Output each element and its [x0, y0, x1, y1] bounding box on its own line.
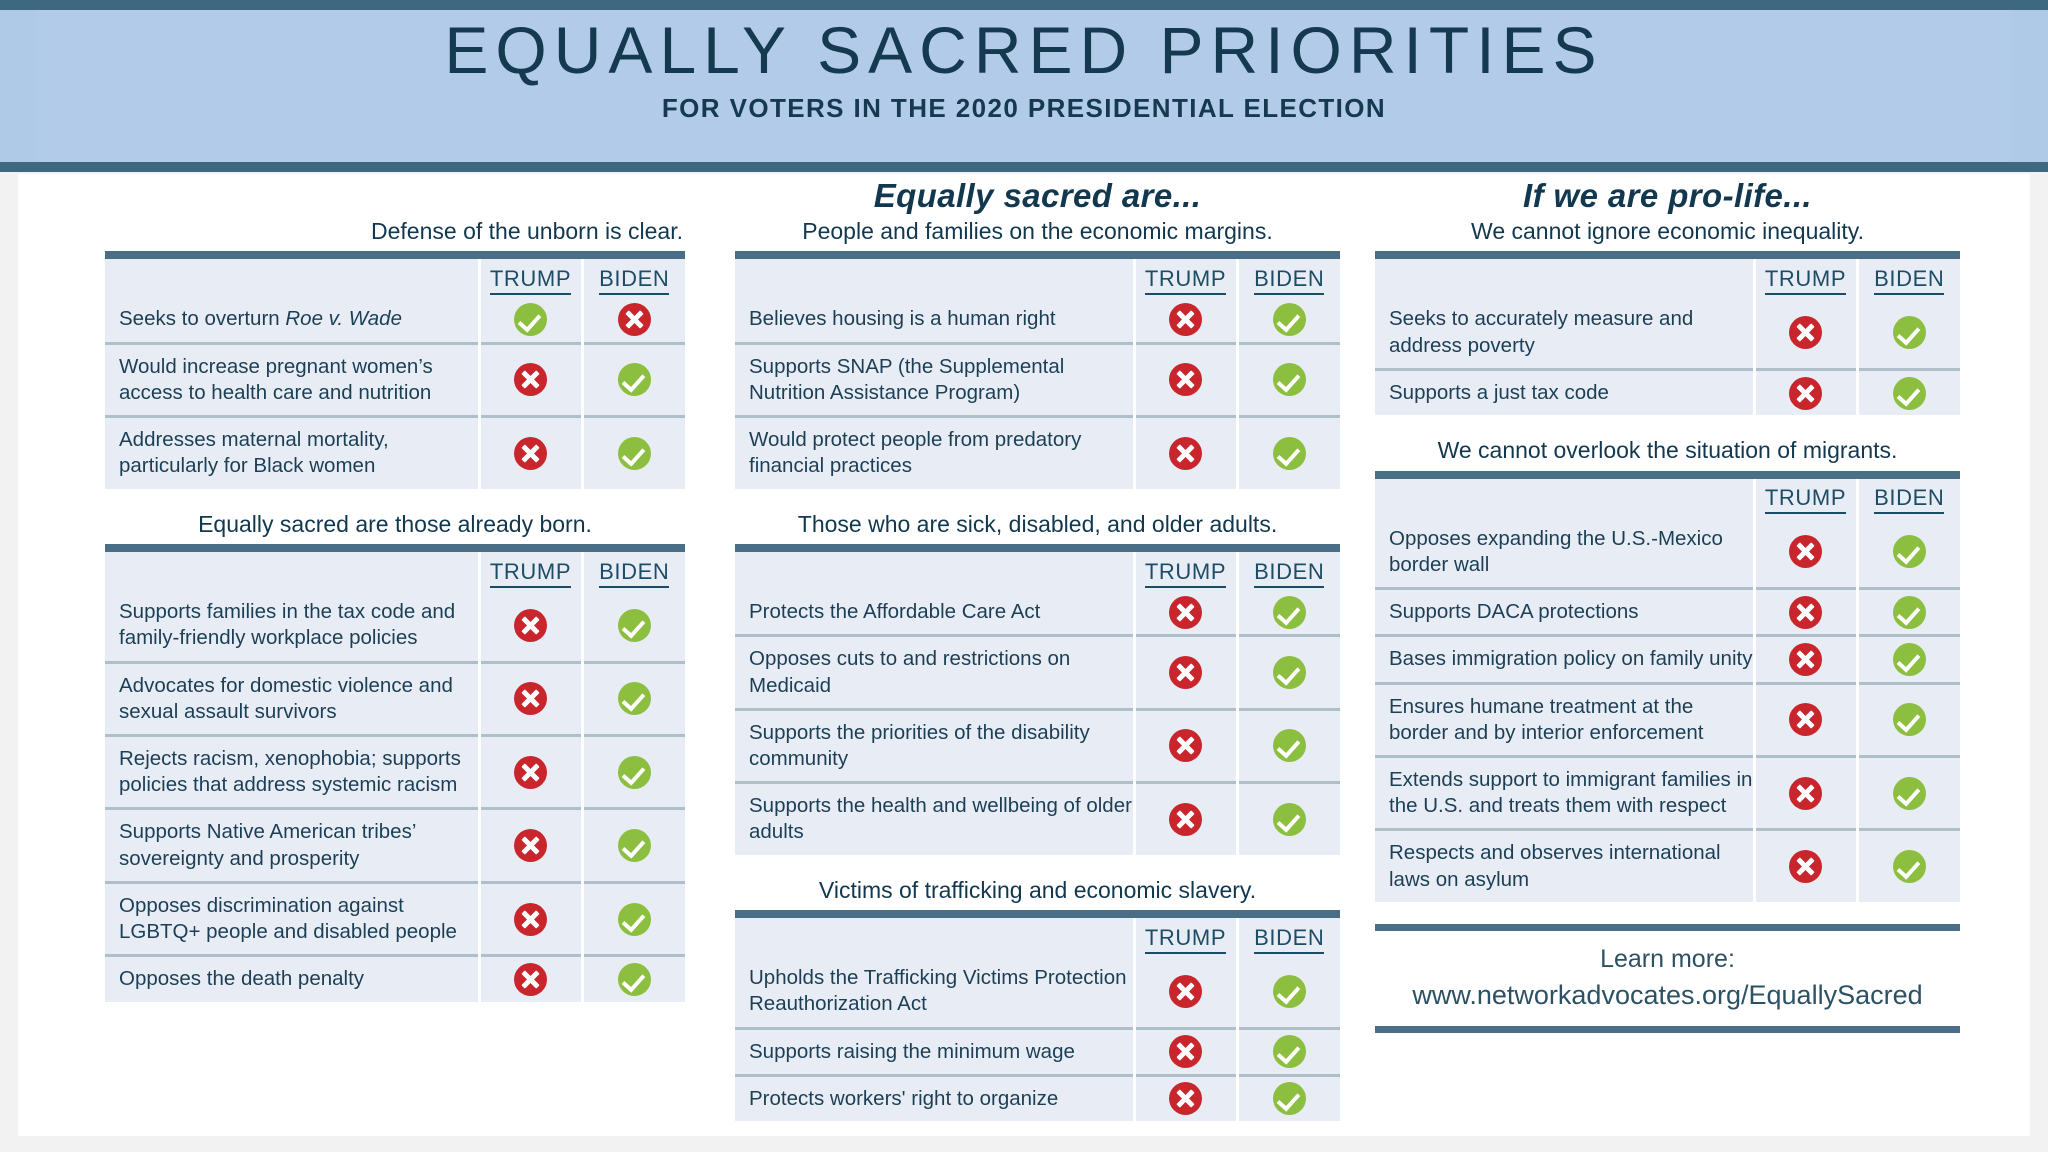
check-circle-icon: [1893, 643, 1926, 676]
comparison-table: TRUMPBIDENBelieves housing is a human ri…: [735, 251, 1340, 488]
biden-vote-cell: [1237, 297, 1340, 343]
trump-vote-cell: [1134, 590, 1237, 636]
table-row: Opposes cuts to and restrictions on Medi…: [735, 636, 1340, 709]
x-circle-icon: [1789, 316, 1822, 349]
table-row: Extends support to immigrant families in…: [1375, 756, 1960, 829]
trump-vote-cell: [479, 590, 582, 662]
issue-label: Bases immigration policy on family unity: [1375, 636, 1754, 683]
column-2: Equally sacred are...People and families…: [735, 174, 1340, 1143]
issue-label: Addresses maternal mortality, particular…: [105, 417, 479, 489]
table-block: We cannot overlook the situation of migr…: [1375, 437, 1960, 902]
trump-vote-cell: [1134, 297, 1237, 343]
table-header-row: TRUMPBIDEN: [735, 255, 1340, 297]
trump-vote-cell: [1754, 517, 1857, 589]
trump-vote-cell: [479, 956, 582, 1002]
issue-label: Supports the priorities of the disabilit…: [735, 709, 1134, 782]
comparison-table: TRUMPBIDENSupports families in the tax c…: [105, 544, 685, 1002]
table-block: Those who are sick, disabled, and older …: [735, 511, 1340, 855]
issue-label: Opposes discrimination against LGBTQ+ pe…: [105, 882, 479, 955]
check-circle-icon: [1273, 975, 1306, 1008]
issue-label: Supports families in the tax code and fa…: [105, 590, 479, 662]
check-circle-icon: [1273, 729, 1306, 762]
check-circle-icon: [618, 437, 651, 470]
header-inner: EQUALLY SACRED PRIORITIES FOR VOTERS IN …: [36, 10, 2012, 162]
biden-vote-cell: [1237, 1075, 1340, 1121]
table-row: Bases immigration policy on family unity: [1375, 636, 1960, 683]
issue-label: Supports SNAP (the Supplemental Nutritio…: [735, 343, 1134, 416]
x-circle-icon: [1169, 656, 1202, 689]
x-circle-icon: [1789, 703, 1822, 736]
issue-label: Supports DACA protections: [1375, 589, 1754, 636]
comparison-table: TRUMPBIDENUpholds the Trafficking Victim…: [735, 910, 1340, 1121]
block-title: Those who are sick, disabled, and older …: [735, 511, 1340, 544]
trump-vote-cell: [1134, 1075, 1237, 1121]
biden-vote-cell: [582, 662, 685, 735]
table-row: Would protect people from predatory fina…: [735, 417, 1340, 489]
biden-column-header: BIDEN: [1857, 255, 1960, 297]
x-circle-icon: [1169, 1035, 1202, 1068]
biden-column-header: BIDEN: [1237, 548, 1340, 590]
issue-label: Advocates for domestic violence and sexu…: [105, 662, 479, 735]
table-header-row: TRUMPBIDEN: [105, 255, 685, 297]
check-circle-icon: [1273, 803, 1306, 836]
comparison-table: TRUMPBIDENSeeks to overturn Roe v. WadeW…: [105, 251, 685, 488]
table-header-row: TRUMPBIDEN: [735, 548, 1340, 590]
block-title: Equally sacred are those already born.: [105, 511, 685, 544]
x-circle-icon: [1169, 363, 1202, 396]
x-circle-icon: [1789, 777, 1822, 810]
check-circle-icon: [618, 756, 651, 789]
spacer-header: [105, 255, 479, 297]
table-row: Advocates for domestic violence and sexu…: [105, 662, 685, 735]
table-row: Supports Native American tribes’ soverei…: [105, 809, 685, 882]
trump-column-header: TRUMP: [1754, 475, 1857, 517]
issue-label: Would protect people from predatory fina…: [735, 417, 1134, 489]
table-row: Believes housing is a human right: [735, 297, 1340, 343]
issue-label: Protects the Affordable Care Act: [735, 590, 1134, 636]
trump-vote-cell: [1134, 343, 1237, 416]
x-circle-icon: [1789, 535, 1822, 568]
x-circle-icon: [1169, 729, 1202, 762]
infographic-page: EQUALLY SACRED PRIORITIES FOR VOTERS IN …: [0, 0, 2048, 1152]
biden-vote-cell: [582, 590, 685, 662]
x-circle-icon: [514, 903, 547, 936]
trump-vote-cell: [1134, 636, 1237, 709]
biden-vote-cell: [1237, 343, 1340, 416]
x-circle-icon: [514, 829, 547, 862]
block-title: Defense of the unborn is clear.: [105, 218, 685, 251]
issue-label: Supports raising the minimum wage: [735, 1028, 1134, 1075]
page-subtitle: FOR VOTERS IN THE 2020 PRESIDENTIAL ELEC…: [662, 93, 1386, 124]
check-circle-icon: [1893, 596, 1926, 629]
check-circle-icon: [1893, 316, 1926, 349]
check-circle-icon: [618, 609, 651, 642]
table-row: Supports a just tax code: [1375, 369, 1960, 415]
trump-vote-cell: [1134, 783, 1237, 855]
table-row: Respects and observes international laws…: [1375, 830, 1960, 902]
table-block: Defense of the unborn is clear.TRUMPBIDE…: [105, 218, 685, 489]
trump-vote-cell: [1754, 297, 1857, 369]
issue-label: Ensures humane treatment at the border a…: [1375, 683, 1754, 756]
table-block: Equally sacred are those already born.TR…: [105, 511, 685, 1002]
trump-vote-cell: [1754, 589, 1857, 636]
page-header: EQUALLY SACRED PRIORITIES FOR VOTERS IN …: [0, 0, 2048, 172]
spacer-header: [1375, 475, 1754, 517]
issue-label: Believes housing is a human right: [735, 297, 1134, 343]
check-circle-icon: [1893, 850, 1926, 883]
column-heading: If we are pro-life...: [1375, 174, 1960, 218]
trump-column-header: TRUMP: [479, 548, 582, 590]
check-circle-icon: [1893, 703, 1926, 736]
learn-more-url[interactable]: www.networkadvocates.org/EquallySacred: [1375, 977, 1960, 1013]
check-circle-icon: [1273, 437, 1306, 470]
comparison-table: TRUMPBIDENOpposes expanding the U.S.-Mex…: [1375, 471, 1960, 902]
biden-vote-cell: [582, 956, 685, 1002]
check-circle-icon: [618, 963, 651, 996]
biden-column-header: BIDEN: [1237, 255, 1340, 297]
trump-vote-cell: [1754, 636, 1857, 683]
check-circle-icon: [618, 363, 651, 396]
biden-vote-cell: [1857, 517, 1960, 589]
issue-label: Would increase pregnant women’s access t…: [105, 343, 479, 416]
issue-label: Seeks to overturn Roe v. Wade: [105, 297, 479, 343]
column-3: If we are pro-life...We cannot ignore ec…: [1375, 174, 1960, 1033]
block-title: Victims of trafficking and economic slav…: [735, 877, 1340, 910]
content-canvas: Defense of the unborn is clear.TRUMPBIDE…: [18, 174, 2030, 1136]
check-circle-icon: [514, 303, 547, 336]
table-row: Supports raising the minimum wage: [735, 1028, 1340, 1075]
biden-vote-cell: [582, 343, 685, 416]
x-circle-icon: [618, 303, 651, 336]
spacer-header: [1375, 255, 1754, 297]
block-title: People and families on the economic marg…: [735, 218, 1340, 251]
x-circle-icon: [514, 363, 547, 396]
learn-more-box: Learn more:www.networkadvocates.org/Equa…: [1375, 924, 1960, 1033]
x-circle-icon: [1169, 596, 1202, 629]
biden-column-header: BIDEN: [1857, 475, 1960, 517]
trump-vote-cell: [1134, 417, 1237, 489]
trump-vote-cell: [1134, 709, 1237, 782]
trump-column-header: TRUMP: [1134, 914, 1237, 956]
x-circle-icon: [514, 682, 547, 715]
check-circle-icon: [1273, 596, 1306, 629]
biden-column-header: BIDEN: [582, 255, 685, 297]
trump-column-header: TRUMP: [1134, 548, 1237, 590]
issue-label: Rejects racism, xenophobia; supports pol…: [105, 735, 479, 808]
column-1: Defense of the unborn is clear.TRUMPBIDE…: [105, 174, 685, 1024]
table-row: Opposes discrimination against LGBTQ+ pe…: [105, 882, 685, 955]
trump-vote-cell: [479, 882, 582, 955]
issue-label: Opposes cuts to and restrictions on Medi…: [735, 636, 1134, 709]
table-row: Upholds the Trafficking Victims Protecti…: [735, 956, 1340, 1028]
trump-vote-cell: [1754, 830, 1857, 902]
biden-vote-cell: [1857, 636, 1960, 683]
trump-vote-cell: [479, 297, 582, 343]
trump-vote-cell: [1754, 683, 1857, 756]
x-circle-icon: [1169, 303, 1202, 336]
table-header-row: TRUMPBIDEN: [105, 548, 685, 590]
x-circle-icon: [1169, 803, 1202, 836]
table-block: We cannot ignore economic inequality.TRU…: [1375, 218, 1960, 415]
x-circle-icon: [1789, 643, 1822, 676]
table-row: Supports the priorities of the disabilit…: [735, 709, 1340, 782]
table-header-row: TRUMPBIDEN: [1375, 255, 1960, 297]
trump-vote-cell: [479, 809, 582, 882]
biden-vote-cell: [1857, 756, 1960, 829]
trump-vote-cell: [1134, 956, 1237, 1028]
issue-label: Supports a just tax code: [1375, 369, 1754, 415]
x-circle-icon: [1789, 596, 1822, 629]
biden-vote-cell: [1857, 589, 1960, 636]
issue-label: Seeks to accurately measure and address …: [1375, 297, 1754, 369]
table-row: Protects workers' right to organize: [735, 1075, 1340, 1121]
biden-vote-cell: [582, 809, 685, 882]
biden-vote-cell: [1237, 417, 1340, 489]
biden-vote-cell: [582, 297, 685, 343]
issue-label: Protects workers' right to organize: [735, 1075, 1134, 1121]
trump-vote-cell: [479, 417, 582, 489]
check-circle-icon: [618, 829, 651, 862]
trump-column-header: TRUMP: [479, 255, 582, 297]
column-heading-spacer: [105, 174, 685, 218]
trump-column-header: TRUMP: [1134, 255, 1237, 297]
column-heading: Equally sacred are...: [735, 174, 1340, 218]
check-circle-icon: [1893, 777, 1926, 810]
x-circle-icon: [514, 756, 547, 789]
check-circle-icon: [1273, 1035, 1306, 1068]
x-circle-icon: [1789, 377, 1822, 410]
block-title: We cannot ignore economic inequality.: [1375, 218, 1960, 251]
biden-vote-cell: [582, 882, 685, 955]
issue-label: Upholds the Trafficking Victims Protecti…: [735, 956, 1134, 1028]
biden-column-header: BIDEN: [582, 548, 685, 590]
trump-vote-cell: [1754, 369, 1857, 415]
x-circle-icon: [514, 609, 547, 642]
comparison-table: TRUMPBIDENProtects the Affordable Care A…: [735, 544, 1340, 855]
learn-more-label: Learn more:: [1375, 943, 1960, 977]
comparison-table: TRUMPBIDENSeeks to accurately measure an…: [1375, 251, 1960, 415]
x-circle-icon: [1169, 975, 1202, 1008]
check-circle-icon: [1273, 303, 1306, 336]
table-row: Would increase pregnant women’s access t…: [105, 343, 685, 416]
table-row: Opposes the death penalty: [105, 956, 685, 1002]
table-row: Supports DACA protections: [1375, 589, 1960, 636]
table-row: Ensures humane treatment at the border a…: [1375, 683, 1960, 756]
issue-label: Extends support to immigrant families in…: [1375, 756, 1754, 829]
table-header-row: TRUMPBIDEN: [1375, 475, 1960, 517]
issue-label: Supports Native American tribes’ soverei…: [105, 809, 479, 882]
x-circle-icon: [514, 963, 547, 996]
biden-vote-cell: [1237, 709, 1340, 782]
table-row: Supports the health and wellbeing of old…: [735, 783, 1340, 855]
page-title: EQUALLY SACRED PRIORITIES: [444, 16, 1603, 85]
check-circle-icon: [1273, 656, 1306, 689]
biden-vote-cell: [1237, 636, 1340, 709]
biden-vote-cell: [582, 417, 685, 489]
spacer-header: [735, 914, 1134, 956]
table-row: Supports SNAP (the Supplemental Nutritio…: [735, 343, 1340, 416]
table-row: Rejects racism, xenophobia; supports pol…: [105, 735, 685, 808]
biden-column-header: BIDEN: [1237, 914, 1340, 956]
table-row: Opposes expanding the U.S.-Mexico border…: [1375, 517, 1960, 589]
biden-vote-cell: [1857, 683, 1960, 756]
check-circle-icon: [618, 682, 651, 715]
table-block: Victims of trafficking and economic slav…: [735, 877, 1340, 1121]
x-circle-icon: [1789, 850, 1822, 883]
issue-label: Opposes expanding the U.S.-Mexico border…: [1375, 517, 1754, 589]
table-row: Protects the Affordable Care Act: [735, 590, 1340, 636]
trump-column-header: TRUMP: [1754, 255, 1857, 297]
check-circle-icon: [1273, 363, 1306, 396]
spacer-header: [735, 548, 1134, 590]
biden-vote-cell: [1237, 956, 1340, 1028]
spacer-header: [735, 255, 1134, 297]
check-circle-icon: [1893, 377, 1926, 410]
table-block: People and families on the economic marg…: [735, 218, 1340, 489]
check-circle-icon: [1273, 1082, 1306, 1115]
table-row: Seeks to accurately measure and address …: [1375, 297, 1960, 369]
x-circle-icon: [1169, 437, 1202, 470]
check-circle-icon: [618, 903, 651, 936]
biden-vote-cell: [1857, 830, 1960, 902]
biden-vote-cell: [1857, 369, 1960, 415]
trump-vote-cell: [479, 662, 582, 735]
trump-vote-cell: [1134, 1028, 1237, 1075]
issue-label: Opposes the death penalty: [105, 956, 479, 1002]
x-circle-icon: [1169, 1082, 1202, 1115]
table-row: Addresses maternal mortality, particular…: [105, 417, 685, 489]
trump-vote-cell: [479, 735, 582, 808]
table-header-row: TRUMPBIDEN: [735, 914, 1340, 956]
biden-vote-cell: [1237, 1028, 1340, 1075]
biden-vote-cell: [1857, 297, 1960, 369]
block-title: We cannot overlook the situation of migr…: [1375, 437, 1960, 470]
x-circle-icon: [514, 437, 547, 470]
check-circle-icon: [1893, 535, 1926, 568]
trump-vote-cell: [479, 343, 582, 416]
trump-vote-cell: [1754, 756, 1857, 829]
biden-vote-cell: [582, 735, 685, 808]
table-row: Supports families in the tax code and fa…: [105, 590, 685, 662]
biden-vote-cell: [1237, 590, 1340, 636]
spacer-header: [105, 548, 479, 590]
issue-label: Respects and observes international laws…: [1375, 830, 1754, 902]
issue-label: Supports the health and wellbeing of old…: [735, 783, 1134, 855]
table-row: Seeks to overturn Roe v. Wade: [105, 297, 685, 343]
biden-vote-cell: [1237, 783, 1340, 855]
